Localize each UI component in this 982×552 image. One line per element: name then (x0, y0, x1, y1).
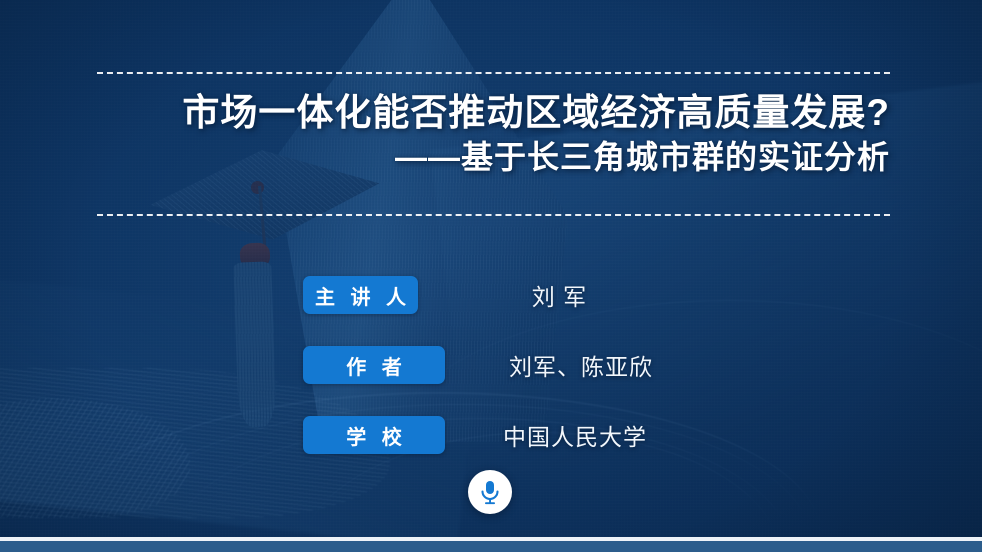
info-value-speaker: 刘 军 (418, 278, 723, 312)
info-label-speaker: 主 讲 人 (303, 276, 418, 314)
title-line-subtitle: ——基于长三角城市群的实证分析 (97, 139, 890, 176)
divider-bottom (97, 214, 890, 216)
info-value-school: 中国人民大学 (445, 418, 723, 452)
microphone-icon (477, 478, 503, 506)
info-label-school: 学 校 (303, 416, 445, 454)
bottom-strip (0, 541, 982, 552)
presentation-title-slide: 市场一体化能否推动区域经济高质量发展? ——基于长三角城市群的实证分析 主 讲 … (0, 0, 982, 552)
info-value-authors: 刘军、陈亚欣 (445, 348, 723, 382)
microphone-badge[interactable] (468, 470, 512, 514)
title-line-primary: 市场一体化能否推动区域经济高质量发展? (97, 92, 890, 135)
info-label-authors: 作 者 (303, 346, 445, 384)
info-row-school: 学 校 中国人民大学 (303, 412, 723, 458)
info-row-speaker: 主 讲 人 刘 军 (303, 272, 723, 318)
divider-top (97, 72, 890, 74)
presenter-info-table: 主 讲 人 刘 军 作 者 刘军、陈亚欣 学 校 中国人民大学 (303, 272, 723, 482)
slide-content: 市场一体化能否推动区域经济高质量发展? ——基于长三角城市群的实证分析 主 讲 … (0, 0, 982, 552)
info-row-authors: 作 者 刘军、陈亚欣 (303, 342, 723, 388)
page-title: 市场一体化能否推动区域经济高质量发展? ——基于长三角城市群的实证分析 (97, 92, 890, 176)
